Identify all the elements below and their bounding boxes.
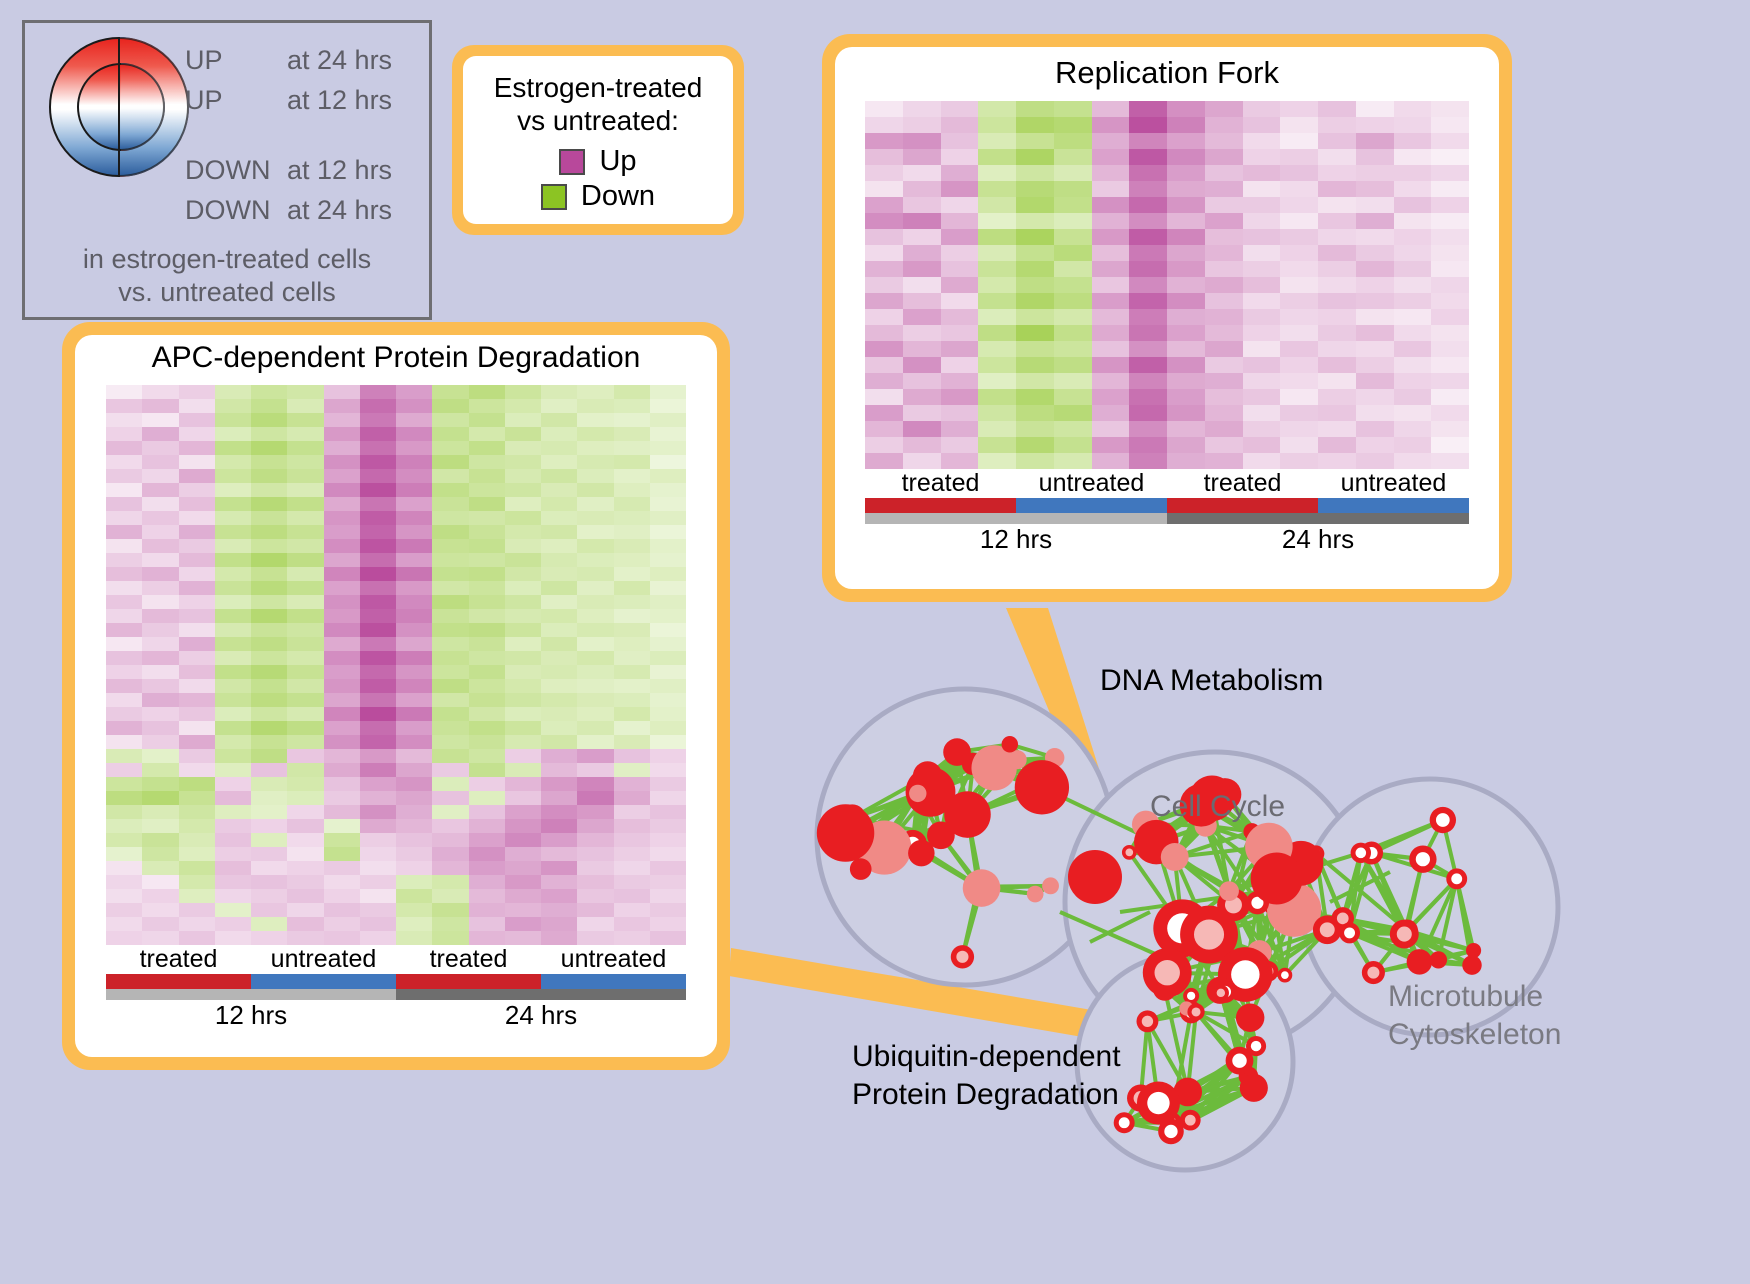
heatmap-cell: [142, 553, 178, 567]
heatmap-cell: [577, 861, 613, 875]
heatmap-cell: [1431, 437, 1469, 453]
heatmap-cell: [1129, 421, 1167, 437]
heatmap-cell: [469, 875, 505, 889]
heatmap-cell: [360, 637, 396, 651]
network-node[interactable]: [1187, 1003, 1204, 1020]
heatmap-cell: [251, 889, 287, 903]
heatmap-cell: [978, 309, 1016, 325]
heatmap-cell: [1356, 357, 1394, 373]
heatmap-cell: [505, 427, 541, 441]
heatmap-cell: [614, 623, 650, 637]
network-node[interactable]: [850, 858, 872, 880]
heatmap-cell: [865, 229, 903, 245]
heatmap-cell: [1394, 389, 1432, 405]
network-node[interactable]: [1008, 750, 1027, 769]
network-node[interactable]: [1430, 807, 1456, 833]
heatmap-cell: [1356, 149, 1394, 165]
heatmap-cell: [614, 875, 650, 889]
heatmap-cell: [541, 735, 577, 749]
heatmap-cell: [360, 847, 396, 861]
heatmap-cell: [541, 679, 577, 693]
heatmap-cell: [287, 553, 323, 567]
network-node[interactable]: [1219, 881, 1239, 901]
heatmap-cell: [179, 497, 215, 511]
heatmap-cell: [505, 581, 541, 595]
heatmap-cell: [941, 277, 979, 293]
network-node[interactable]: [1446, 868, 1467, 889]
heatmap-cell: [1318, 389, 1356, 405]
wheel-legend-key-0: UP: [185, 45, 223, 76]
heatmap-cell: [1167, 357, 1205, 373]
heatmap-cell: [1167, 101, 1205, 117]
time-label: 24 hrs: [1167, 524, 1469, 555]
heatmap-cell: [650, 791, 686, 805]
heatmap-cell: [179, 539, 215, 553]
network-node[interactable]: [944, 791, 991, 838]
heatmap-cell: [396, 693, 432, 707]
heatmap-cell: [1280, 245, 1318, 261]
heatmap-cell: [1356, 309, 1394, 325]
network-node[interactable]: [1236, 1004, 1264, 1032]
heatmap-cell: [505, 455, 541, 469]
heatmap-cell: [179, 441, 215, 455]
heatmap-cell: [1054, 133, 1092, 149]
heatmap-cell: [251, 525, 287, 539]
heatmap-cell: [1167, 229, 1205, 245]
network-node[interactable]: [943, 738, 971, 766]
network-node[interactable]: [951, 945, 974, 968]
heatmap-cell: [505, 777, 541, 791]
heatmap-cell: [396, 623, 432, 637]
heatmap-cell: [865, 165, 903, 181]
network-node[interactable]: [1466, 943, 1481, 958]
heatmap-cell: [1394, 213, 1432, 229]
heatmap-cell: [179, 567, 215, 581]
heatmap-cell: [1394, 117, 1432, 133]
heatmap-cell: [1356, 421, 1394, 437]
wheel-legend-caption-line2: vs. untreated cells: [25, 276, 429, 309]
heatmap-cell: [142, 665, 178, 679]
treatment-bar-segment: [1016, 498, 1167, 513]
heatmap-cell: [251, 609, 287, 623]
apc-time-bar: [106, 989, 686, 1000]
heatmap-cell: [251, 875, 287, 889]
heatmap-cell: [1243, 341, 1281, 357]
heatmap-cell: [106, 707, 142, 721]
heatmap-cell: [614, 707, 650, 721]
network-node[interactable]: [1137, 1082, 1180, 1125]
heatmap-cell: [865, 133, 903, 149]
heatmap-cell: [1054, 245, 1092, 261]
heatmap-cell: [179, 791, 215, 805]
heatmap-cell: [614, 931, 650, 945]
heatmap-cell: [1318, 245, 1356, 261]
heatmap-cell: [251, 665, 287, 679]
heatmap-cell: [469, 777, 505, 791]
heatmap-cell: [215, 399, 251, 413]
network-hub-node[interactable]: [1068, 850, 1122, 904]
heatmap-cell: [978, 181, 1016, 197]
heatmap-cell: [1129, 405, 1167, 421]
heatmap-cell: [251, 861, 287, 875]
heatmap-cell: [650, 525, 686, 539]
heatmap-cell: [1431, 405, 1469, 421]
heatmap-cell: [650, 399, 686, 413]
apc-panel-title: APC-dependent Protein Degradation: [152, 341, 641, 375]
heatmap-cell: [396, 721, 432, 735]
heatmap-cell: [1205, 309, 1243, 325]
heatmap-cell: [1356, 229, 1394, 245]
network-node[interactable]: [1462, 955, 1481, 974]
network-node[interactable]: [1339, 922, 1360, 943]
heatmap-cell: [1129, 181, 1167, 197]
heatmap-cell: [577, 693, 613, 707]
heatmap-cell: [106, 819, 142, 833]
network-node[interactable]: [1122, 845, 1137, 860]
heatmap-cell: [287, 413, 323, 427]
heatmap-cell: [469, 917, 505, 931]
heatmap-cell: [1394, 197, 1432, 213]
heatmap-cell: [650, 777, 686, 791]
network-node[interactable]: [967, 876, 989, 898]
heatmap-cell: [1431, 197, 1469, 213]
heatmap-cell: [432, 931, 468, 945]
network-node[interactable]: [1027, 886, 1044, 903]
network-node[interactable]: [1180, 1110, 1201, 1131]
heatmap-cell: [1394, 453, 1432, 469]
network-node[interactable]: [909, 785, 926, 802]
heatmap-cell: [142, 581, 178, 595]
network-node[interactable]: [1226, 1047, 1254, 1075]
heatmap-cell: [978, 325, 1016, 341]
heatmap-cell: [541, 889, 577, 903]
heatmap-cell: [215, 511, 251, 525]
heatmap-cell: [1205, 149, 1243, 165]
heatmap-cell: [865, 101, 903, 117]
heatmap-cell: [505, 791, 541, 805]
heatmap-cell: [941, 181, 979, 197]
heatmap-cell: [251, 427, 287, 441]
heatmap-cell: [106, 595, 142, 609]
heatmap-cell: [1167, 133, 1205, 149]
network-node[interactable]: [1136, 1010, 1158, 1032]
heatmap-cell: [1054, 453, 1092, 469]
heatmap-cell: [1167, 293, 1205, 309]
heatmap-cell: [614, 469, 650, 483]
heatmap-cell: [1431, 325, 1469, 341]
treatment-bar-segment: [106, 974, 251, 989]
heatmap-cell: [1167, 245, 1205, 261]
heatmap-cell: [106, 525, 142, 539]
network-node[interactable]: [1015, 760, 1069, 814]
heatmap-cell: [505, 525, 541, 539]
heatmap-cell: [1129, 373, 1167, 389]
heatmap-cell: [215, 525, 251, 539]
heatmap-cell: [577, 679, 613, 693]
heatmap-cell: [432, 805, 468, 819]
heatmap-cell: [1092, 341, 1130, 357]
heatmap-cell: [215, 385, 251, 399]
heatmap-cell: [1318, 197, 1356, 213]
heatmap-cell: [324, 399, 360, 413]
heatmap-cell: [106, 497, 142, 511]
network-node[interactable]: [1409, 846, 1436, 873]
network-node[interactable]: [1114, 1112, 1135, 1133]
heatmap-cell: [941, 405, 979, 421]
heatmap-cell: [1205, 341, 1243, 357]
heatmap-cell: [1431, 373, 1469, 389]
heatmap-cell: [1280, 453, 1318, 469]
heatmap-cell: [106, 903, 142, 917]
heatmap-cell: [469, 721, 505, 735]
heatmap-cell: [432, 399, 468, 413]
heatmap-cell: [106, 427, 142, 441]
heatmap-cell: [179, 469, 215, 483]
network-node[interactable]: [1240, 1074, 1268, 1102]
network-node[interactable]: [908, 840, 934, 866]
heatmap-cell: [1243, 245, 1281, 261]
heatmap-cell: [1092, 245, 1130, 261]
heatmap-cell: [251, 399, 287, 413]
heatmap-cell: [577, 875, 613, 889]
heatmap-cell: [251, 483, 287, 497]
heatmap-cell: [396, 931, 432, 945]
heatmap-cell: [1016, 117, 1054, 133]
heatmap-cell: [396, 427, 432, 441]
heatmap-cell: [1167, 453, 1205, 469]
heatmap-cell: [1394, 373, 1432, 389]
heatmap-cell: [1092, 421, 1130, 437]
heatmap-cell: [215, 595, 251, 609]
heatmap-cell: [1167, 325, 1205, 341]
heatmap-cell: [903, 373, 941, 389]
heatmap-cell: [106, 749, 142, 763]
legend-item-down: Down: [541, 180, 655, 213]
heatmap-cell: [469, 889, 505, 903]
heatmap-cell: [1054, 357, 1092, 373]
heatmap-cell: [106, 385, 142, 399]
heatmap-cell: [324, 525, 360, 539]
heatmap-cell: [650, 553, 686, 567]
heatmap-cell: [1016, 309, 1054, 325]
heatmap-cell: [324, 791, 360, 805]
heatmap-cell: [1243, 357, 1281, 373]
heatmap-cell: [865, 245, 903, 261]
heatmap-cell: [287, 497, 323, 511]
heatmap-cell: [614, 651, 650, 665]
network-node[interactable]: [1042, 877, 1059, 894]
heatmap-cell: [1016, 133, 1054, 149]
network-node[interactable]: [1213, 985, 1229, 1001]
heatmap-cell: [978, 197, 1016, 213]
heatmap-cell: [903, 437, 941, 453]
heatmap-cell: [614, 889, 650, 903]
heatmap-cell: [215, 931, 251, 945]
column-group-label: treated: [396, 945, 541, 974]
heatmap-cell: [142, 749, 178, 763]
network-node[interactable]: [1161, 843, 1189, 871]
heatmap-cell: [505, 847, 541, 861]
heatmap-cell: [360, 693, 396, 707]
heatmap-cell: [978, 245, 1016, 261]
heatmap-cell: [577, 819, 613, 833]
heatmap-cell: [1205, 213, 1243, 229]
heatmap-cell: [215, 735, 251, 749]
network-label-4: Ubiquitin-dependent: [852, 1040, 1121, 1075]
heatmap-cell: [505, 735, 541, 749]
heatmap-cell: [1318, 229, 1356, 245]
heatmap-cell: [903, 181, 941, 197]
heatmap-cell: [251, 805, 287, 819]
network-node[interactable]: [1351, 843, 1371, 863]
heatmap-cell: [650, 847, 686, 861]
heatmap-cell: [650, 455, 686, 469]
column-group-label: treated: [1167, 469, 1318, 498]
heatmap-cell: [978, 357, 1016, 373]
heatmap-cell: [1016, 453, 1054, 469]
heatmap-cell: [941, 341, 979, 357]
heatmap-cell: [396, 609, 432, 623]
heatmap-cell: [1167, 389, 1205, 405]
heatmap-cell: [142, 777, 178, 791]
heatmap-cell: [650, 707, 686, 721]
heatmap-cell: [650, 917, 686, 931]
treatment-bar-segment: [865, 498, 1016, 513]
heatmap-cell: [1431, 261, 1469, 277]
heatmap-cell: [396, 595, 432, 609]
heatmap-cell: [1205, 373, 1243, 389]
heatmap-cell: [142, 483, 178, 497]
heatmap-cell: [1280, 389, 1318, 405]
colour-wheel-graphic: [49, 37, 189, 187]
heatmap-cell: [179, 511, 215, 525]
heatmap-cell: [432, 777, 468, 791]
treatment-bar-segment: [541, 974, 686, 989]
heatmap-cell: [541, 497, 577, 511]
heatmap-cell: [179, 651, 215, 665]
heatmap-cell: [106, 441, 142, 455]
heatmap-cell: [1318, 213, 1356, 229]
network-node[interactable]: [1143, 948, 1192, 997]
heatmap-cell: [577, 651, 613, 665]
heatmap-cell: [865, 389, 903, 405]
heatmap-cell: [650, 651, 686, 665]
heatmap-cell: [1205, 293, 1243, 309]
heatmap-cell: [432, 469, 468, 483]
heatmap-cell: [287, 693, 323, 707]
column-group-label: untreated: [251, 945, 396, 974]
heatmap-cell: [650, 483, 686, 497]
heatmap-cell: [324, 455, 360, 469]
heatmap-cell: [432, 609, 468, 623]
heatmap-cell: [287, 455, 323, 469]
heatmap-cell: [941, 357, 979, 373]
heatmap-cell: [1394, 357, 1432, 373]
heatmap-cell: [541, 763, 577, 777]
heatmap-cell: [251, 679, 287, 693]
heatmap-cell: [324, 623, 360, 637]
heatmap-cell: [469, 385, 505, 399]
heatmap-cell: [360, 553, 396, 567]
heatmap-cell: [1431, 165, 1469, 181]
heatmap-cell: [179, 889, 215, 903]
network-node[interactable]: [817, 804, 874, 861]
heatmap-cell: [287, 623, 323, 637]
heatmap-cell: [1356, 245, 1394, 261]
heatmap-cell: [179, 777, 215, 791]
heatmap-cell: [469, 455, 505, 469]
heatmap-cell: [469, 469, 505, 483]
heatmap-cell: [287, 833, 323, 847]
network-node[interactable]: [1278, 968, 1293, 983]
heatmap-cell: [432, 623, 468, 637]
network-node[interactable]: [1407, 949, 1432, 974]
network-svg: [790, 612, 1750, 1279]
heatmap-cell: [865, 421, 903, 437]
heatmap-cell: [469, 609, 505, 623]
heatmap-cell: [614, 567, 650, 581]
heatmap-cell: [1016, 165, 1054, 181]
heatmap-cell: [360, 539, 396, 553]
heatmap-cell: [577, 931, 613, 945]
time-bar-segment: [865, 513, 1167, 524]
heatmap-cell: [432, 595, 468, 609]
heatmap-cell: [978, 421, 1016, 437]
heatmap-cell: [941, 453, 979, 469]
heatmap-cell: [142, 637, 178, 651]
heatmap-cell: [1318, 421, 1356, 437]
network-node[interactable]: [1362, 961, 1385, 984]
heatmap-cell: [396, 651, 432, 665]
heatmap-cell: [251, 413, 287, 427]
wheel-legend-caption-line1: in estrogen-treated cells: [25, 243, 429, 276]
heatmap-cell: [941, 293, 979, 309]
heatmap-cell: [1356, 181, 1394, 197]
heatmap-cell: [324, 469, 360, 483]
heatmap-cell: [287, 707, 323, 721]
heatmap-cell: [1129, 341, 1167, 357]
heatmap-cell: [106, 581, 142, 595]
heatmap-cell: [1356, 389, 1394, 405]
heatmap-cell: [1205, 405, 1243, 421]
heatmap-cell: [179, 861, 215, 875]
network-node[interactable]: [1390, 920, 1419, 949]
heatmap-cell: [1318, 373, 1356, 389]
heatmap-cell: [903, 101, 941, 117]
heatmap-cell: [941, 149, 979, 165]
heatmap-cell: [360, 777, 396, 791]
heatmap-cell: [650, 889, 686, 903]
heatmap-cell: [1243, 197, 1281, 213]
heatmap-cell: [1016, 213, 1054, 229]
heatmap-cell: [142, 595, 178, 609]
heatmap-cell: [469, 553, 505, 567]
network-node[interactable]: [1251, 852, 1303, 904]
network-node[interactable]: [1430, 951, 1447, 968]
heatmap-cell: [650, 931, 686, 945]
time-label: 24 hrs: [396, 1000, 686, 1031]
heatmap-cell: [577, 511, 613, 525]
network-label-3: Cytoskeleton: [1388, 1018, 1561, 1053]
heatmap-cell: [505, 763, 541, 777]
heatmap-cell: [106, 623, 142, 637]
heatmap-cell: [396, 399, 432, 413]
heatmap-cell: [142, 693, 178, 707]
heatmap-cell: [469, 637, 505, 651]
network-node[interactable]: [1002, 736, 1018, 752]
heatmap-cell: [251, 917, 287, 931]
replication-fork-group-labels: treateduntreatedtreateduntreated: [865, 469, 1469, 498]
